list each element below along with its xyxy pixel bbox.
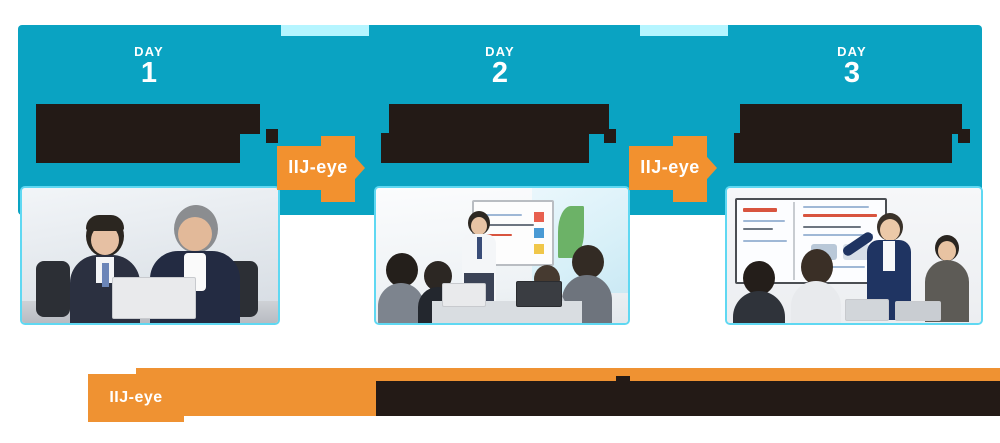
photo-laptop	[442, 283, 486, 307]
photo-laptop	[112, 277, 196, 319]
board-line	[743, 208, 777, 212]
board-line	[803, 226, 861, 228]
photo-person-face	[178, 217, 212, 251]
sticky-note	[534, 228, 544, 238]
photo-laptop	[895, 301, 941, 321]
photo-1-content	[22, 188, 278, 323]
photo-laptop	[516, 281, 562, 307]
board-line	[743, 240, 787, 242]
photo-person-hair	[86, 215, 124, 231]
sticky-note	[534, 212, 544, 222]
photo-person-face	[471, 217, 487, 235]
summary-bar[interactable]: IIJ-eye	[88, 368, 1000, 416]
day-number-2: 2	[371, 59, 629, 88]
panel-divider-notch-1	[281, 25, 369, 36]
redacted-text-block	[958, 129, 970, 143]
photo-3-content	[727, 188, 981, 323]
badge-foot	[321, 188, 355, 202]
photo-person-tie	[477, 237, 482, 259]
photo-person-head	[572, 245, 604, 279]
redacted-text-block	[381, 133, 589, 163]
badge-foot	[673, 188, 707, 202]
day-headline-2	[389, 104, 613, 166]
photo-audience	[733, 261, 785, 323]
photo-laptop	[845, 299, 889, 321]
redacted-text-block	[36, 133, 240, 163]
photo-person-shirt	[883, 241, 895, 271]
redacted-text-block	[376, 381, 1000, 416]
day-photo-2	[374, 186, 630, 325]
photo-person-head	[743, 261, 775, 295]
photo-person-face	[938, 241, 956, 261]
connector-badge-label-2: IIJ-eye	[633, 158, 707, 176]
redacted-text-block	[389, 104, 609, 134]
connector-badge-1[interactable]: IIJ-eye	[277, 136, 373, 196]
board-line	[743, 220, 785, 222]
photo-person-head	[386, 253, 418, 287]
redacted-text-block	[740, 104, 962, 134]
photo-person-torso	[791, 281, 841, 325]
day-headline-1	[36, 104, 264, 166]
connector-badge-label-1: IIJ-eye	[281, 158, 355, 176]
panel-divider-notch-2	[640, 25, 728, 36]
board-line	[803, 206, 869, 208]
sticky-note	[534, 244, 544, 254]
photo-person-tie	[102, 263, 109, 287]
redacted-text-block	[734, 133, 952, 163]
summary-tag-label: IIJ-eye	[88, 390, 184, 406]
redacted-text-block	[36, 104, 260, 134]
photo-2-content	[376, 188, 628, 323]
connector-badge-2[interactable]: IIJ-eye	[629, 136, 725, 196]
photo-person-torso	[733, 291, 785, 325]
redacted-text-block	[616, 376, 630, 386]
board-line	[743, 228, 773, 230]
day-number-3: 3	[722, 59, 982, 88]
day-photo-3	[725, 186, 983, 325]
photo-person-face	[880, 219, 900, 241]
day-number-1: 1	[18, 59, 280, 88]
photo-chair	[36, 261, 70, 317]
redacted-text-block	[604, 129, 616, 143]
day-headline-3	[740, 104, 966, 166]
photo-audience	[789, 249, 843, 323]
day-photo-1	[20, 186, 280, 325]
photo-person-head	[801, 249, 833, 285]
infographic-canvas: DAY 1	[0, 0, 1000, 443]
